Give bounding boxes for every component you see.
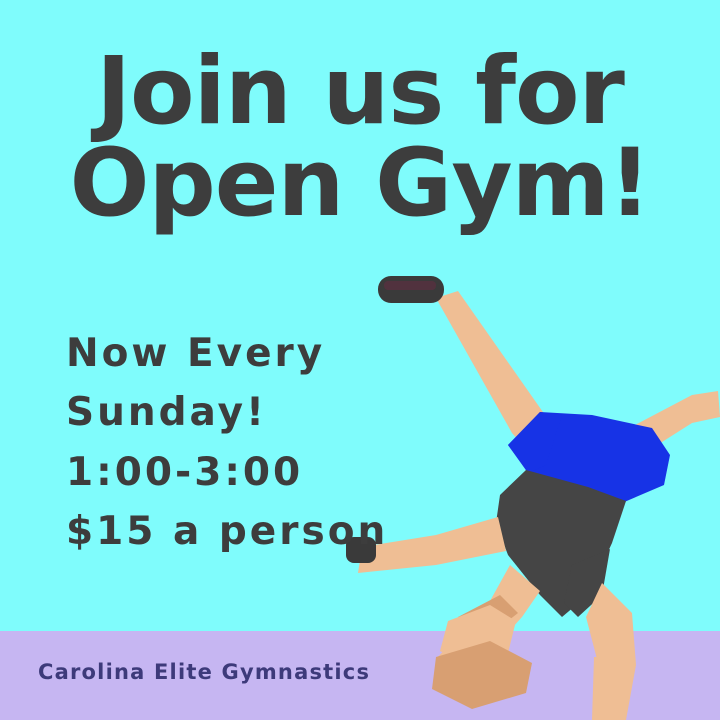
detail-line-time: 1:00-3:00 [66, 443, 446, 502]
detail-line-day: Sunday! [66, 383, 446, 442]
headline-line-1: Join us for [0, 46, 720, 138]
detail-line-price: $15 a person [66, 502, 446, 561]
headline-line-2: Open Gym! [0, 138, 720, 230]
event-details: Now Every Sunday! 1:00-3:00 $15 a person [66, 324, 446, 561]
organization-name: Carolina Elite Gymnastics [38, 660, 370, 684]
detail-line-frequency: Now Every [66, 324, 446, 383]
open-gym-flyer: Join us for Open Gym! Now Every Sunday! … [0, 0, 720, 720]
headline: Join us for Open Gym! [0, 46, 720, 230]
